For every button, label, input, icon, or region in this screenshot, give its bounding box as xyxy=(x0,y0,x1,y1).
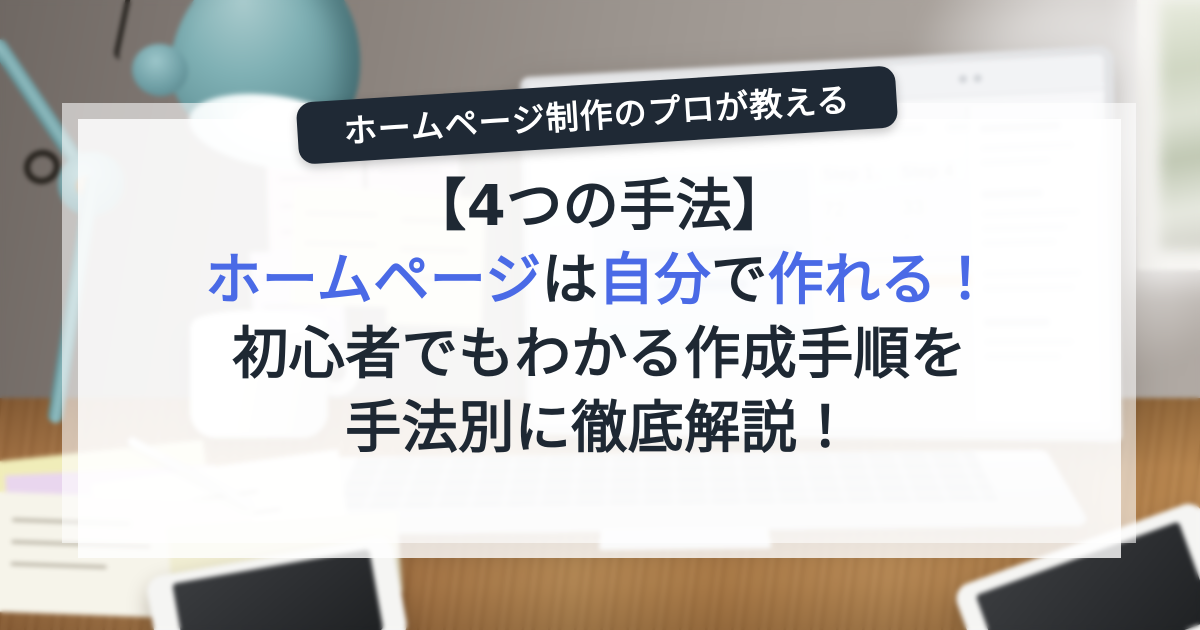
title-line-2: ホームページは自分で作れる！ xyxy=(78,244,1121,318)
title-segment: 手法別に徹底解説！ xyxy=(345,396,854,461)
title-segment: で xyxy=(711,248,768,313)
title-segment: は xyxy=(542,248,599,313)
title-segment-accent: ホームページ xyxy=(205,248,541,313)
title-line-3: 初心者でもわかる作成手順を xyxy=(78,318,1121,392)
title-segment-accent: 作れる！ xyxy=(768,248,994,313)
title-line-4: 手法別に徹底解説！ xyxy=(78,392,1121,466)
title-line-1: 【4つの手法】 xyxy=(78,170,1121,244)
title-block: 【4つの手法】 ホームページは自分で作れる！ 初心者でもわかる作成手順を 手法別… xyxy=(78,170,1121,466)
title-segment-accent: 自分 xyxy=(598,248,711,313)
title-segment: 初心者でもわかる作成手順を xyxy=(232,322,967,387)
title-segment: 【4つの手法】 xyxy=(410,174,788,239)
banner-canvas: Step 1. 72 × Step 4 33 × xyxy=(0,0,1200,630)
